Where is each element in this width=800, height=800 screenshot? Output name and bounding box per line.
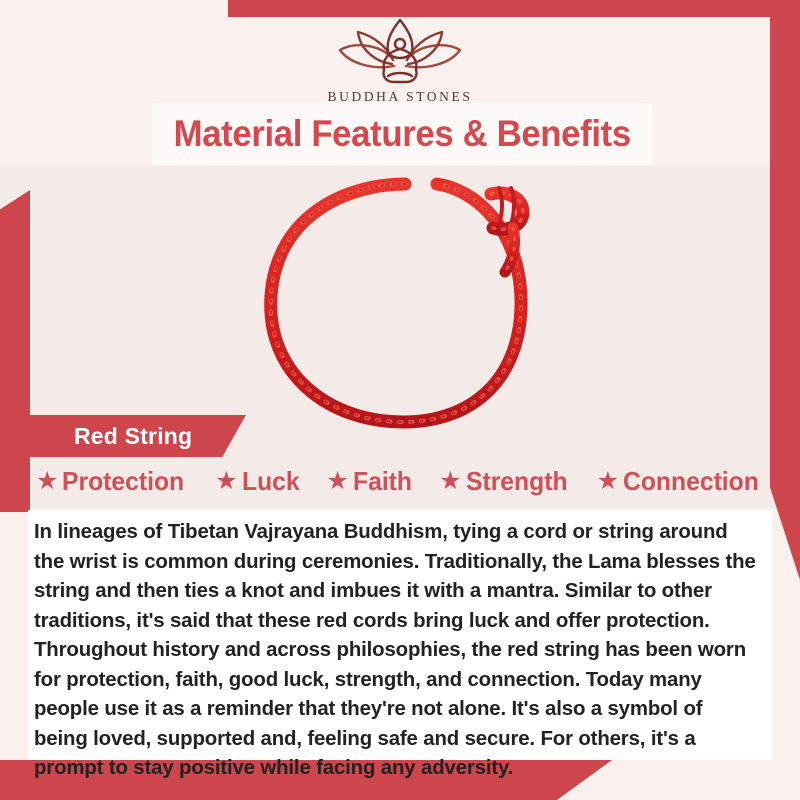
left-accent-strip — [0, 190, 30, 512]
benefit-item-strength: ★ Strength — [439, 466, 572, 497]
benefit-label: Connection — [623, 466, 759, 497]
material-name-label: Red String — [74, 423, 192, 450]
page-title: Material Features & Benefits — [173, 113, 630, 155]
benefit-label: Luck — [242, 466, 300, 497]
red-braided-string-bracelet-icon — [255, 168, 555, 436]
description-text: In lineages of Tibetan Vajrayana Buddhis… — [28, 510, 772, 784]
star-icon: ★ — [439, 469, 461, 494]
description-card: In lineages of Tibetan Vajrayana Buddhis… — [28, 510, 772, 760]
benefits-list: ★ Protection ★ Luck ★ Faith ★ Strength ★… — [36, 466, 766, 497]
benefit-item-connection: ★ Connection — [597, 466, 766, 497]
material-features-infographic: BUDDHA STONES Material Features & Benefi… — [0, 0, 800, 800]
star-icon: ★ — [326, 469, 348, 494]
benefit-label: Protection — [62, 466, 184, 497]
lotus-meditation-icon — [334, 14, 466, 86]
brand-logo: BUDDHA STONES — [0, 14, 800, 105]
benefit-item-faith: ★ Faith — [326, 466, 415, 497]
star-icon: ★ — [36, 469, 58, 494]
benefit-label: Faith — [353, 466, 412, 497]
star-icon: ★ — [215, 469, 237, 494]
star-icon: ★ — [597, 469, 619, 494]
benefit-item-luck: ★ Luck — [215, 466, 302, 497]
material-name-tag: Red String — [30, 415, 246, 457]
benefit-item-protection: ★ Protection — [36, 466, 191, 497]
product-image — [255, 168, 555, 436]
headline-banner: Material Features & Benefits — [152, 103, 652, 165]
benefit-label: Strength — [466, 466, 568, 497]
